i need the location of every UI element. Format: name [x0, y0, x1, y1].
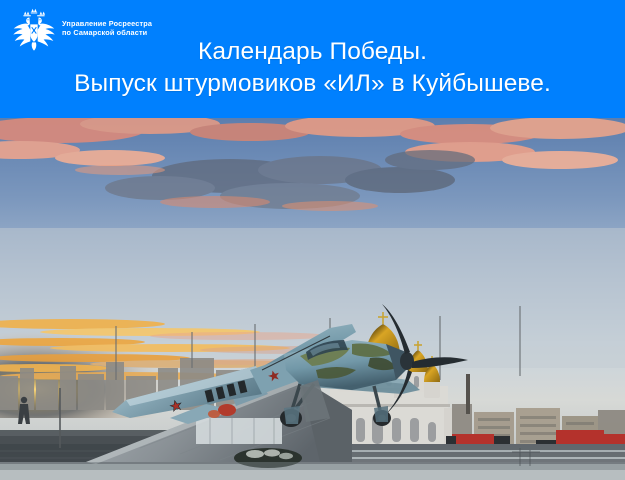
slide-title-line1: Календарь Победы. [0, 36, 625, 68]
presentation-slide: Управление Росреестра по Самарской облас… [0, 0, 625, 480]
slide-header: Управление Росреестра по Самарской облас… [0, 0, 625, 118]
slide-title: Календарь Победы. Выпуск штурмовиков «ИЛ… [0, 36, 625, 101]
monument-photograph [0, 118, 625, 480]
slide-title-line2: Выпуск штурмовиков «ИЛ» в Куйбышеве. [0, 68, 625, 100]
